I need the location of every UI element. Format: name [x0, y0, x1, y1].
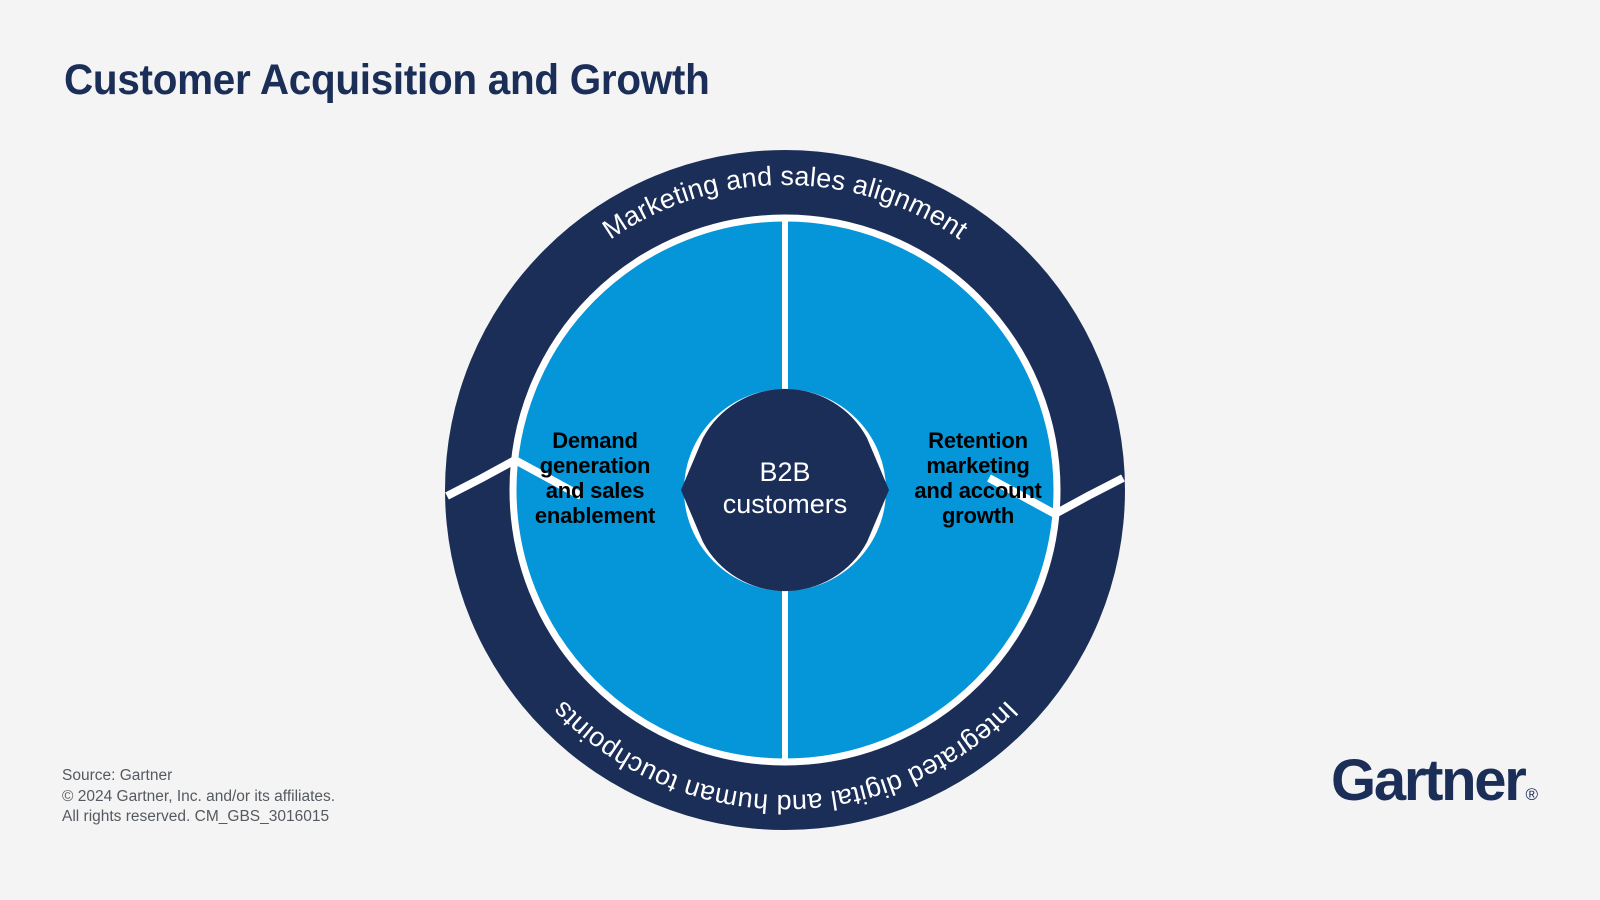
segment-label-right-line-2: marketing [873, 453, 1083, 478]
hub-label-line-2: customers [723, 489, 848, 519]
segment-label-right-line-4: growth [873, 503, 1083, 528]
segment-label-right-line-3: and account [873, 478, 1083, 503]
segment-label-right-line-1: Retention [873, 428, 1083, 453]
registered-trademark-icon: ® [1524, 786, 1538, 810]
gartner-logo-text: Gartner [1331, 752, 1524, 810]
page-title: Customer Acquisition and Growth [64, 56, 709, 105]
customer-acquisition-diagram: Marketing and sales alignment Integrated… [435, 140, 1135, 840]
segment-label-left-line-2: generation [490, 453, 700, 478]
segment-label-left-line-4: enablement [490, 503, 700, 528]
source-line-3: All rights reserved. CM_GBS_3016015 [62, 807, 335, 828]
segment-label-left: Demand generation and sales enablement [490, 428, 700, 528]
gartner-logo: Gartner ® [1331, 752, 1538, 810]
source-line-2: © 2024 Gartner, Inc. and/or its affiliat… [62, 787, 335, 808]
source-line-1: Source: Gartner [62, 766, 335, 787]
page-root: Customer Acquisition and Growth [0, 0, 1600, 900]
source-attribution: Source: Gartner © 2024 Gartner, Inc. and… [62, 766, 335, 828]
segment-label-left-line-3: and sales [490, 478, 700, 503]
hub-label-line-1: B2B [759, 457, 810, 487]
segment-label-left-line-1: Demand [490, 428, 700, 453]
segment-label-right: Retention marketing and account growth [873, 428, 1083, 528]
